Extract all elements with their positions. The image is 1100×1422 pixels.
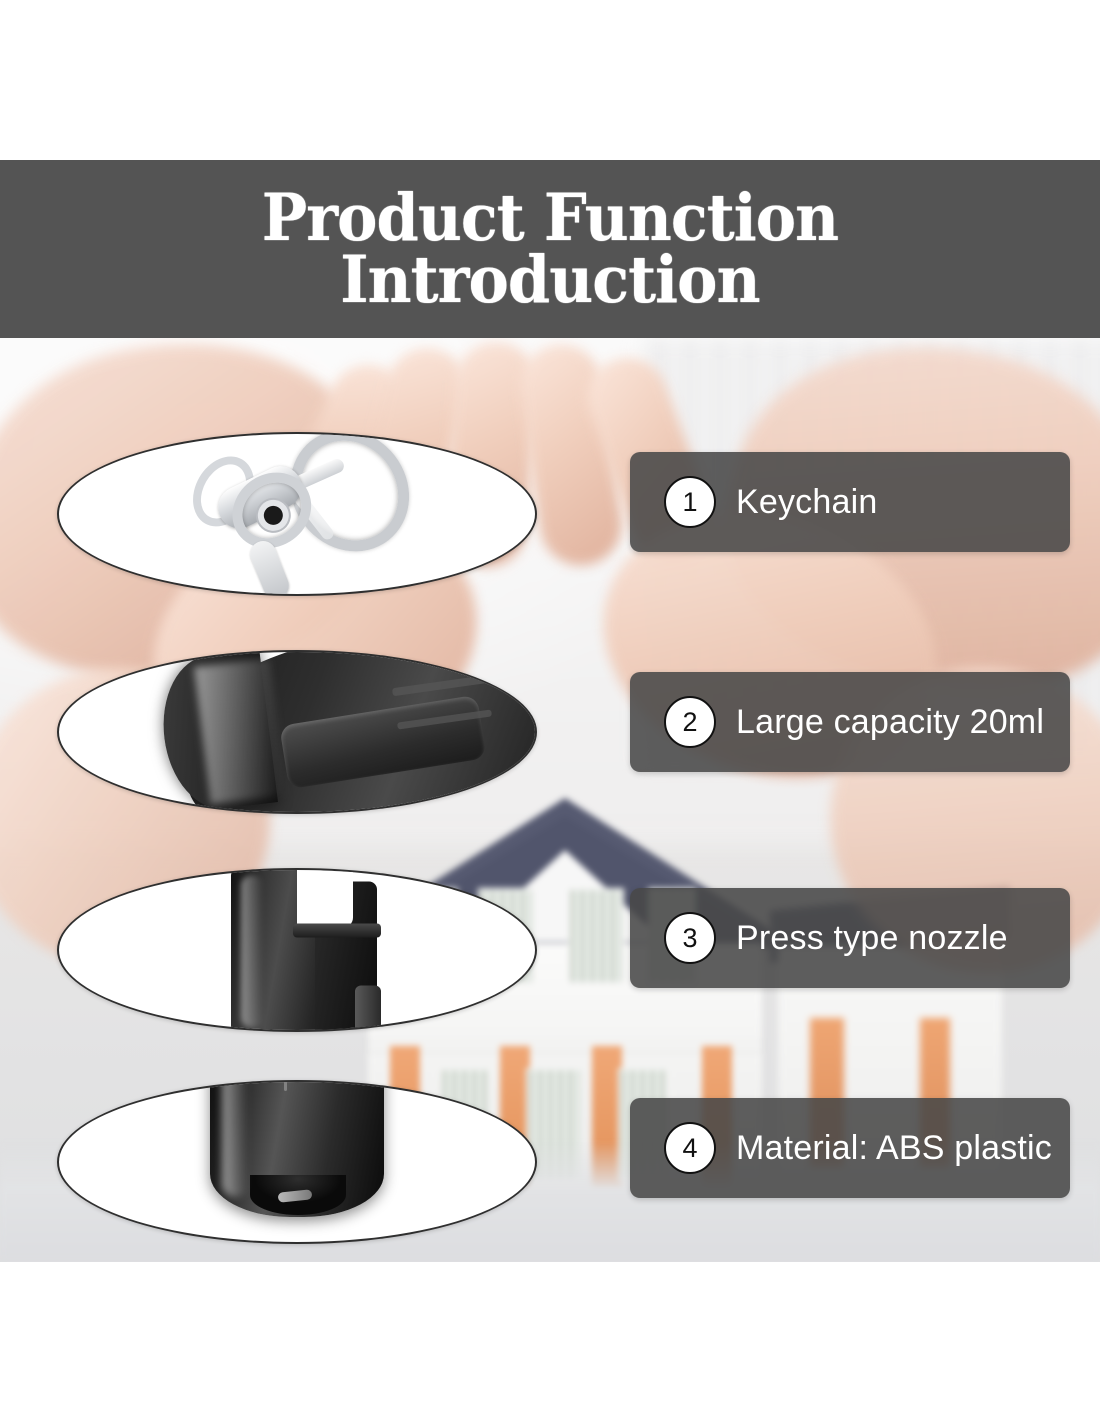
press-nozzle-closeup [197, 870, 397, 1030]
feature-label-4[interactable]: 4 Material: ABS plastic [630, 1098, 1070, 1198]
detail-oval-nozzle [57, 868, 537, 1032]
feature-number-badge-3: 3 [664, 912, 716, 964]
feature-label-3[interactable]: 3 Press type nozzle [630, 888, 1070, 988]
detail-oval-material-inner [59, 1082, 535, 1242]
house-window [568, 888, 624, 984]
product-scene-photo: 1 Keychain 2 Large capacity 20ml 3 Press… [0, 338, 1100, 1262]
detail-oval-material [57, 1080, 537, 1244]
feature-label-1[interactable]: 1 Keychain [630, 452, 1070, 552]
detail-oval-nozzle-inner [59, 870, 535, 1030]
feature-label-text-4: Material: ABS plastic [736, 1129, 1052, 1168]
feature-label-2[interactable]: 2 Large capacity 20ml [630, 672, 1070, 772]
bottle-body-closeup [59, 652, 535, 812]
bottle-base-closeup [192, 1082, 402, 1242]
bottle-base-seam [284, 1082, 287, 1091]
nozzle-stem [355, 986, 381, 1030]
feature-label-text-1: Keychain [736, 483, 877, 522]
detail-oval-capacity [57, 650, 537, 814]
feature-number-badge-1: 1 [664, 476, 716, 528]
nozzle-highlight [241, 876, 263, 1028]
infographic-canvas: Product Function Introduction [0, 0, 1100, 1422]
feature-label-text-3: Press type nozzle [736, 919, 1008, 958]
page-title: Product Function Introduction [262, 187, 838, 312]
bottle-base-highlight [222, 1082, 248, 1197]
detail-oval-keychain-inner [59, 434, 535, 594]
nozzle-lip [293, 924, 381, 938]
feature-number-badge-2: 2 [664, 696, 716, 748]
keychain-clasp-icon [168, 434, 426, 594]
feature-number-badge-4: 4 [664, 1122, 716, 1174]
feature-label-text-2: Large capacity 20ml [736, 703, 1044, 742]
clasp-lever [246, 537, 293, 594]
header-band: Product Function Introduction [0, 160, 1100, 338]
detail-oval-capacity-inner [59, 652, 535, 812]
bottle-body-highlight [194, 657, 286, 803]
detail-oval-keychain [57, 432, 537, 596]
nozzle-notch [297, 870, 353, 928]
